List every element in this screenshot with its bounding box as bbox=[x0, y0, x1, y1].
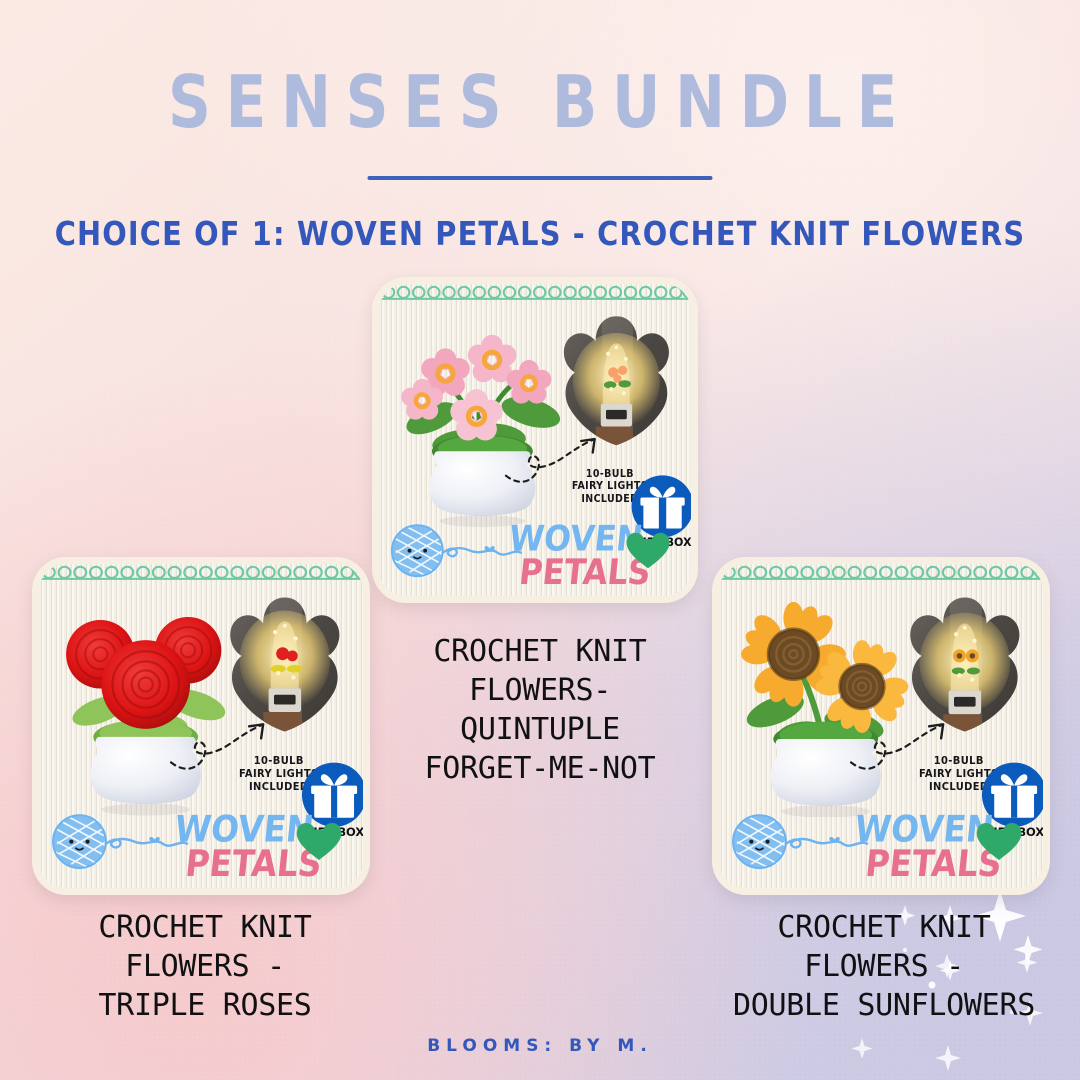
potted-plant-forget-me-not bbox=[395, 303, 570, 528]
caption-center: CROCHET KNIT FLOWERS- QUINTUPLE FORGET-M… bbox=[340, 632, 740, 788]
yarn-ball-icon bbox=[392, 526, 443, 577]
woven-petals-logo: WOVEN PETALS bbox=[49, 788, 354, 885]
caption-line: FLOWERS- bbox=[340, 671, 740, 710]
logo-word-petals: PETALS bbox=[863, 842, 1004, 885]
logo-word-petals: PETALS bbox=[183, 842, 324, 885]
woven-petals-logo: WOVEN PETALS bbox=[729, 788, 1034, 885]
poster-canvas: SENSES BUNDLE CHOICE OF 1: WOVEN PETALS … bbox=[0, 0, 1080, 1080]
page-title: SENSES BUNDLE bbox=[43, 66, 1037, 138]
product-card-left[interactable]: 10-BULB FAIRY LIGHTS INCLUDED GIFT BOX bbox=[32, 557, 370, 895]
caption-right: CROCHET KNIT FLOWERS - DOUBLE SUNFLOWERS bbox=[700, 908, 1068, 1025]
caption-line: TRIPLE ROSES bbox=[40, 986, 370, 1025]
subtitle: CHOICE OF 1: WOVEN PETALS - CROCHET KNIT… bbox=[16, 214, 1064, 253]
logo-word-petals: PETALS bbox=[518, 552, 653, 593]
caption-line: CROCHET KNIT bbox=[40, 908, 370, 947]
yarn-ball-icon bbox=[53, 815, 106, 868]
product-card-center[interactable]: 10-BULB FAIRY LIGHTS INCLUDED GIFT BOX bbox=[372, 277, 698, 603]
caption-line: DOUBLE SUNFLOWERS bbox=[700, 986, 1068, 1025]
woven-petals-logo: WOVEN PETALS bbox=[388, 499, 681, 593]
caption-left: CROCHET KNIT FLOWERS - TRIPLE ROSES bbox=[40, 908, 370, 1025]
caption-line: FORGET-ME-NOT bbox=[340, 749, 740, 788]
title-divider bbox=[368, 176, 713, 180]
card-surface-right: 10-BULB FAIRY LIGHTS INCLUDED GIFT BOX bbox=[719, 564, 1043, 888]
potted-plant-roses bbox=[55, 583, 236, 816]
card-surface-left: 10-BULB FAIRY LIGHTS INCLUDED GIFT BOX bbox=[39, 564, 363, 888]
card-surface-center: 10-BULB FAIRY LIGHTS INCLUDED GIFT BOX bbox=[379, 284, 691, 596]
footer-brand: BLOOMS: BY M. bbox=[0, 1036, 1080, 1056]
yarn-ball-icon bbox=[733, 815, 786, 868]
product-card-right[interactable]: 10-BULB FAIRY LIGHTS INCLUDED GIFT BOX bbox=[712, 557, 1050, 895]
potted-plant-sunflowers bbox=[735, 583, 916, 816]
caption-line: QUINTUPLE bbox=[340, 710, 740, 749]
caption-line: FLOWERS - bbox=[40, 947, 370, 986]
caption-line: FLOWERS - bbox=[700, 947, 1068, 986]
caption-line: CROCHET KNIT bbox=[700, 908, 1068, 947]
caption-line: CROCHET KNIT bbox=[340, 632, 740, 671]
